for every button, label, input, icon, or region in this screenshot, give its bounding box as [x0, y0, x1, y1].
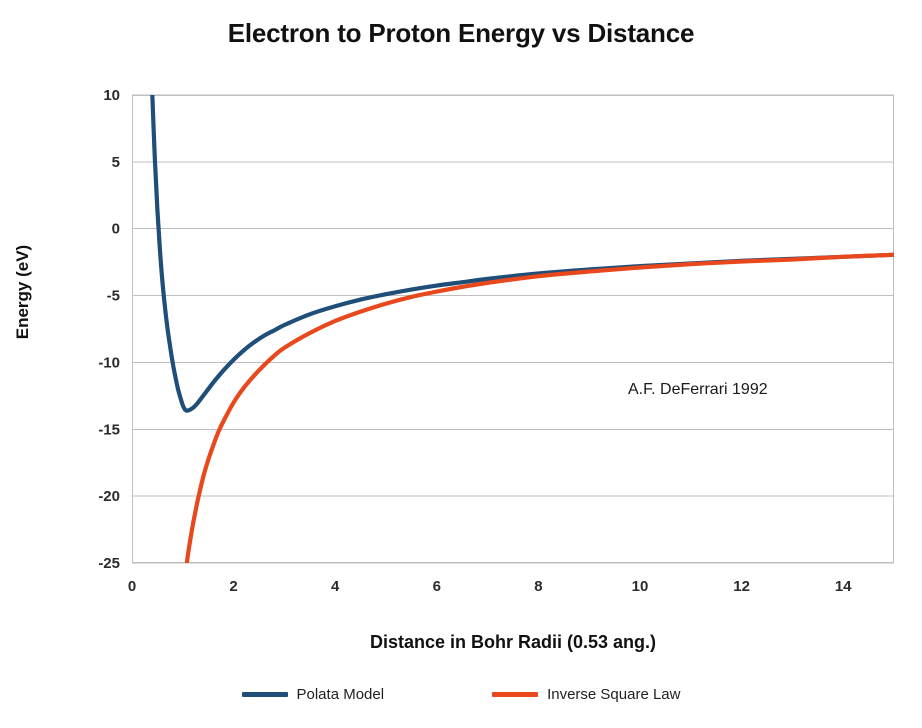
x-tick-label: 14 — [835, 578, 852, 595]
chart-legend: Polata Model Inverse Square Law — [0, 686, 922, 703]
y-tick-label: 0 — [112, 221, 120, 238]
legend-swatch-inverse-square-law — [492, 692, 538, 697]
x-tick-label: 6 — [433, 578, 441, 595]
plot-area: 1050-5-10-15-20-2502468101214 — [0, 0, 922, 728]
y-tick-label: -5 — [107, 288, 120, 305]
legend-item[interactable]: Polata Model — [242, 686, 385, 703]
chart-annotation: A.F. DeFerrari 1992 — [628, 381, 768, 399]
y-tick-label: -25 — [98, 555, 120, 572]
plot-background — [132, 95, 894, 563]
y-tick-label: 5 — [112, 154, 120, 171]
legend-item[interactable]: Inverse Square Law — [492, 686, 680, 703]
x-tick-label: 12 — [733, 578, 750, 595]
y-tick-label: -15 — [98, 421, 120, 438]
x-axis-title: Distance in Bohr Radii (0.53 ang.) — [132, 632, 894, 653]
x-tick-label: 4 — [331, 578, 340, 595]
y-tick-label: 10 — [103, 87, 120, 104]
x-tick-label: 10 — [632, 578, 649, 595]
y-tick-label: -20 — [98, 488, 120, 505]
y-tick-label: -10 — [98, 354, 120, 371]
chart-container: Electron to Proton Energy vs Distance En… — [0, 0, 922, 728]
legend-swatch-polata-model — [242, 692, 288, 697]
x-tick-label: 8 — [534, 578, 542, 595]
legend-label: Polata Model — [297, 686, 385, 703]
x-tick-label: 2 — [229, 578, 237, 595]
legend-label: Inverse Square Law — [547, 686, 680, 703]
x-tick-label: 0 — [128, 578, 136, 595]
